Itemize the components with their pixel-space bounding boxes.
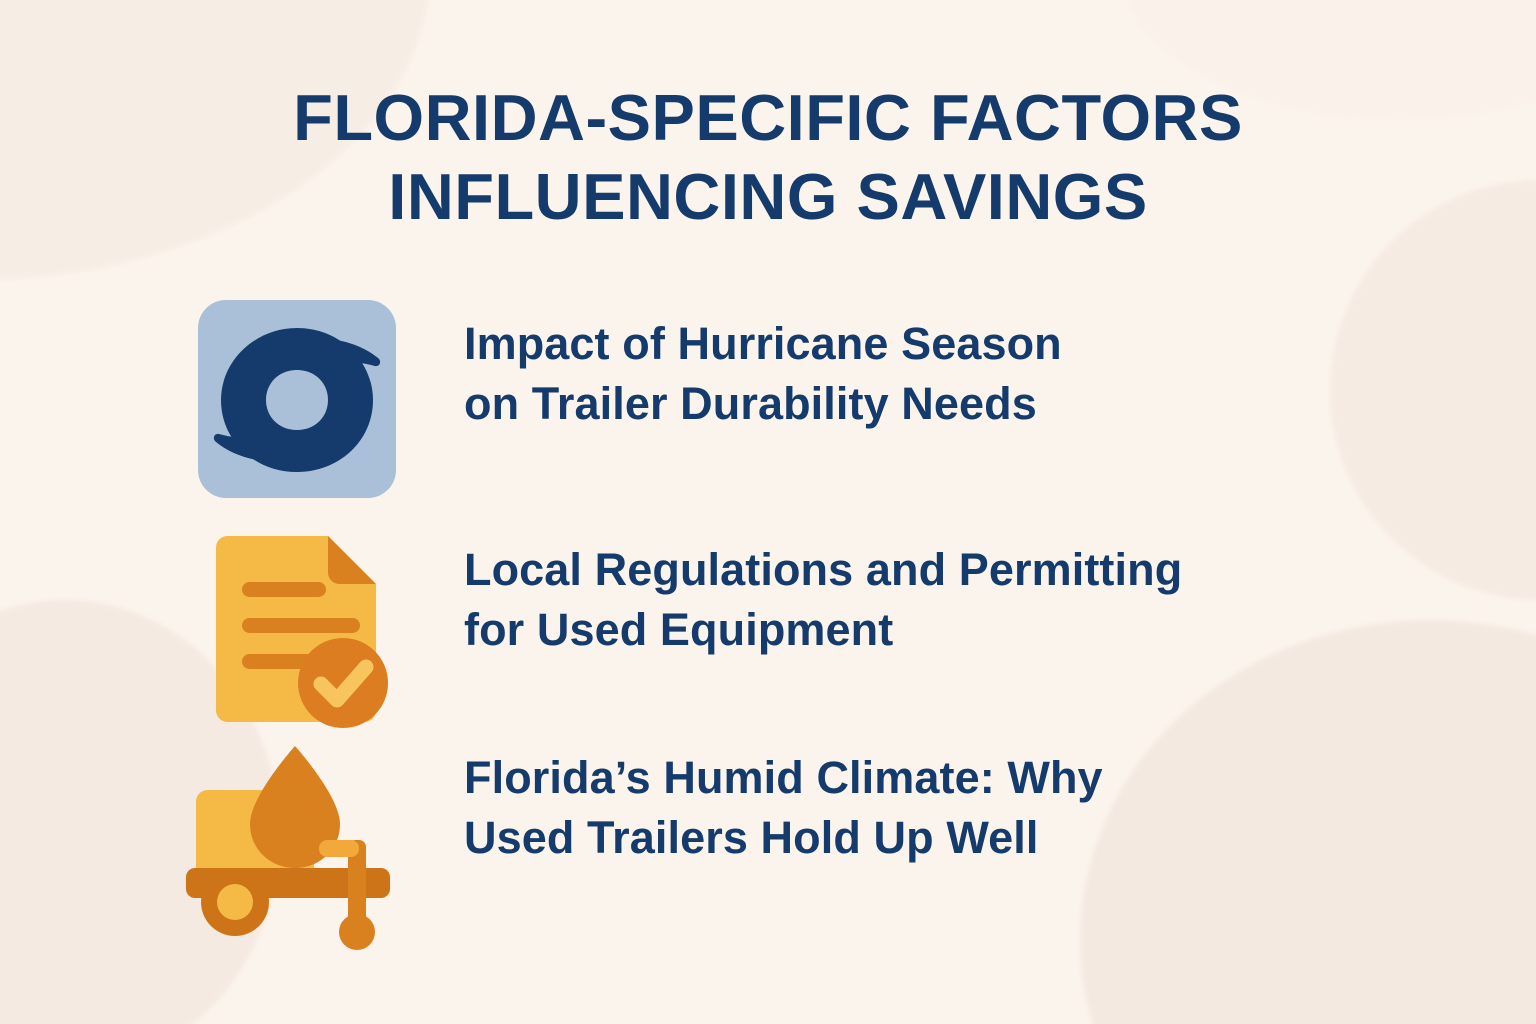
trailer-humidity-icon xyxy=(180,740,412,958)
list-item: Impact of Hurricane Season on Trailer Du… xyxy=(180,290,1460,522)
page-title: FLORIDA-SPECIFIC FACTORS INFLUENCING SAV… xyxy=(0,78,1536,237)
hurricane-icon xyxy=(180,290,412,508)
hurricane-icon-slot xyxy=(180,290,412,508)
factor-list: Impact of Hurricane Season on Trailer Du… xyxy=(180,290,1460,940)
list-item-label: Florida’s Humid Climate: Why Used Traile… xyxy=(464,740,1103,868)
document-approved-icon xyxy=(180,522,412,740)
document-approved-icon-slot xyxy=(180,522,412,740)
list-item-label: Impact of Hurricane Season on Trailer Du… xyxy=(464,290,1062,434)
list-item: Florida’s Humid Climate: Why Used Traile… xyxy=(180,740,1460,940)
trailer-humidity-icon-slot xyxy=(180,740,412,958)
page-title-line-2: INFLUENCING SAVINGS xyxy=(0,157,1536,236)
page-title-line-1: FLORIDA-SPECIFIC FACTORS xyxy=(0,78,1536,157)
list-item: Local Regulations and Permitting for Use… xyxy=(180,522,1460,740)
list-item-label: Local Regulations and Permitting for Use… xyxy=(464,522,1182,660)
infographic-page: FLORIDA-SPECIFIC FACTORS INFLUENCING SAV… xyxy=(0,0,1536,1024)
